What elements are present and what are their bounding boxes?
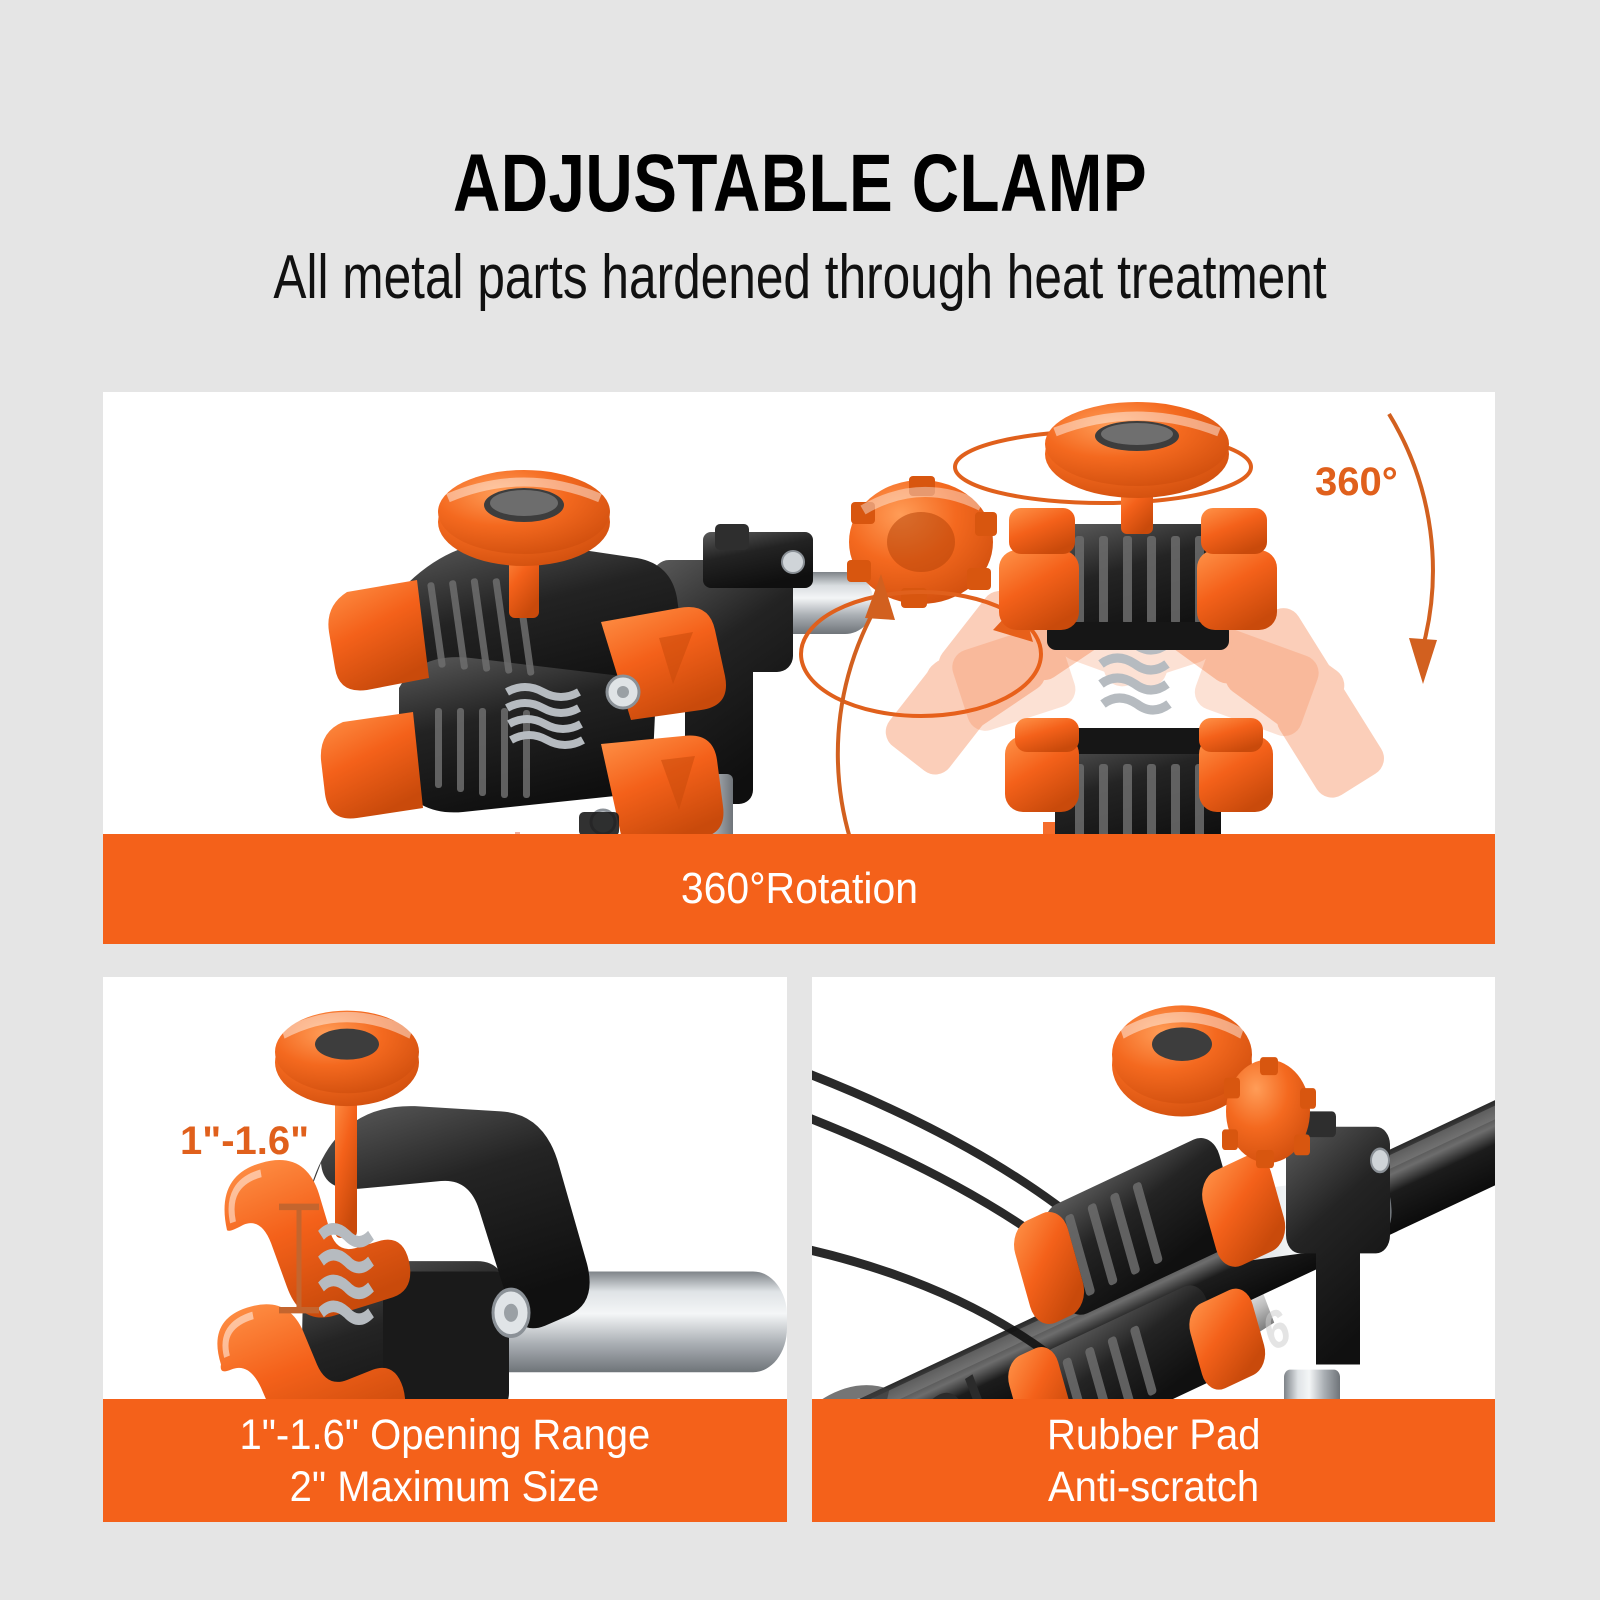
rubber-pad-panel: ICOL NE C-86 xyxy=(812,977,1495,1522)
page-title: ADJUSTABLE CLAMP xyxy=(160,140,1440,228)
opening-range-caption: 1"-1.6" Opening Range 2" Maximum Size xyxy=(103,1399,787,1522)
opening-range-caption-line2: 2" Maximum Size xyxy=(290,1461,600,1513)
opening-range-panel: VEVOR 1"-1.6" 1"-1.6" Opening Range 2" M… xyxy=(103,977,787,1522)
page-subtitle: All metal parts hardened through heat tr… xyxy=(160,243,1440,313)
opening-range-caption-line1: 1"-1.6" Opening Range xyxy=(240,1409,651,1461)
rotation-panel: 360° 360°Rotation xyxy=(103,392,1495,944)
rubber-pad-caption-line1: Rubber Pad xyxy=(1047,1409,1260,1461)
opening-range-dimension-label: 1"-1.6" xyxy=(180,1119,309,1164)
rotation-degree-label: 360° xyxy=(1315,460,1398,505)
infographic-page: ADJUSTABLE CLAMP All metal parts hardene… xyxy=(0,0,1600,1600)
rotation-caption: 360°Rotation xyxy=(103,834,1495,944)
rubber-pad-caption-line2: Anti-scratch xyxy=(1048,1461,1259,1513)
rubber-pad-caption: Rubber Pad Anti-scratch xyxy=(812,1399,1495,1522)
rotation-caption-text: 360°Rotation xyxy=(680,864,917,914)
header: ADJUSTABLE CLAMP All metal parts hardene… xyxy=(0,0,1600,392)
